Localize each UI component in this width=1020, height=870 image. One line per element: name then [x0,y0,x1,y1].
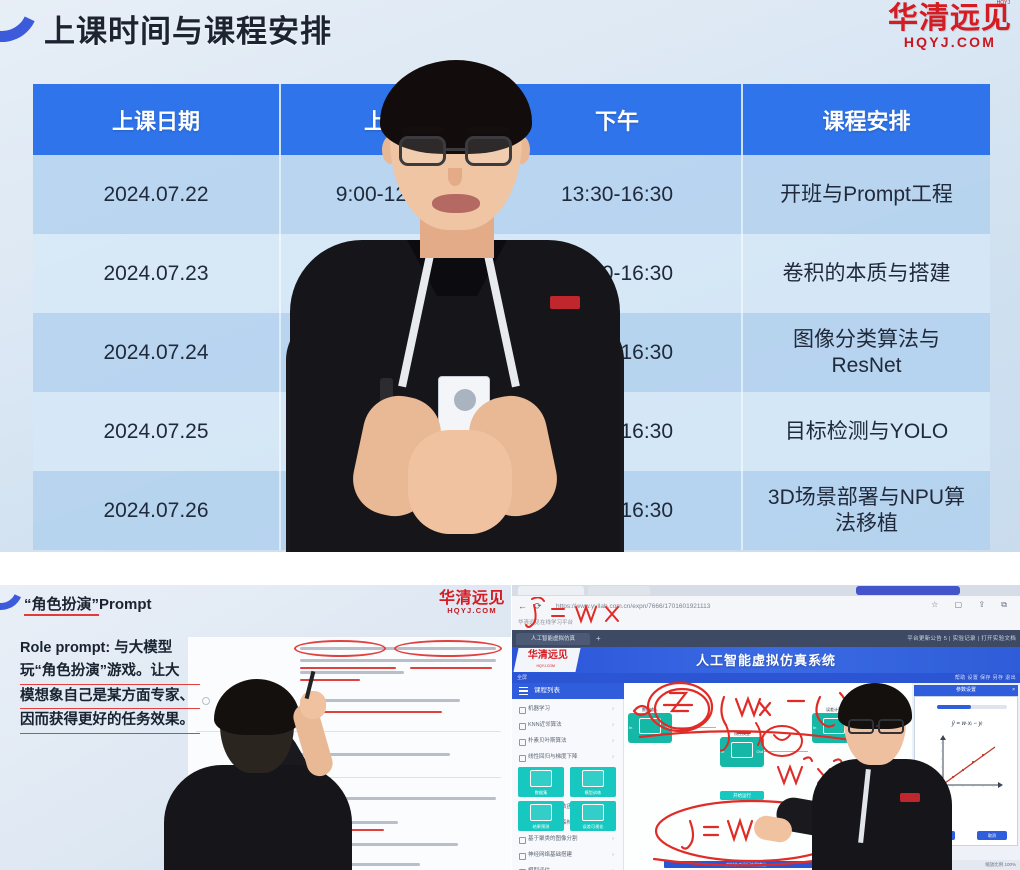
tile-label: 数据集 [518,790,564,796]
brand-logo-tiny: HQYJ [997,1,1010,6]
node-in-port[interactable]: In [629,725,632,730]
app-sidebar: 课程列表 机器学习 KNN近邻算法 朴素贝叶斯算法 线性回归与梯度下降 支持向量… [512,683,624,870]
bl-body-text: Role prompt: 与大模型 玩“角色扮演”游戏。让大 模想象自己是某方面… [20,637,200,734]
browser-toolbar-icons[interactable]: ☆ ▢ ⇪ ⧉ [931,600,1014,610]
node-label: 数据输入 [628,707,672,713]
hamburger-icon[interactable] [519,687,528,695]
column-header-date: 上课日期 [33,84,281,155]
cell-date: 2024.07.26 [33,471,281,550]
bl-title-quoted: “角色扮演” [24,596,99,616]
scatter-icon [582,804,604,821]
function-icon [530,770,552,787]
node-in-port[interactable]: In [721,749,724,754]
instructor-hair [214,679,300,735]
sidebar-item-linear-regression[interactable]: 线性回归与梯度下降 [518,751,618,764]
bl-body-line: 玩“角色扮演”游戏。让大 [20,660,200,684]
instructor-right-torso [812,759,952,870]
node-data-input[interactable]: 数据输入 In Out [628,713,672,743]
sidebar-item-bayes[interactable]: 朴素贝叶斯算法 [518,735,618,748]
instructor-hand [300,691,326,719]
brand-logo-cn: 华清远见 [888,4,1012,34]
glasses-left-lens [399,136,446,166]
node-out-port[interactable]: Out [665,725,671,730]
sidebar-header[interactable]: 课程列表 [512,683,624,699]
column-header-course: 课程安排 [743,84,990,155]
presenter-hands [408,430,512,534]
tile-prediction[interactable]: 结果预测 [518,801,564,831]
cell-date: 2024.07.22 [33,155,281,234]
annotation-ellipse [294,640,386,657]
decorative-arc [0,0,48,52]
bl-body-line: 因而获得更好的任务效果。 [20,709,200,733]
bl-brand-logo: 华清远见 HQYJ.COM [439,591,505,615]
tile-label: 模型训练 [570,790,616,796]
cell-date: 2024.07.25 [33,392,281,471]
sidebar-item-knn[interactable]: KNN近邻算法 [518,719,618,732]
sidebar-item-clustering[interactable]: 基于聚类的图像分割 [518,833,618,846]
bottom-left-slide: “角色扮演”Prompt 华清远见 HQYJ.COM Rol [0,585,511,870]
app-subbar-actions[interactable]: 帮助 设置 保存 另存 退出 [955,673,1016,683]
glasses-bridge [876,725,880,727]
tile-training[interactable]: 模型训练 [570,767,616,797]
presenter-logo-patch [550,296,580,309]
app-tab-tools[interactable]: 平台更新公告 5 | 实验记录 | 打开实验文档 [907,633,1016,645]
node-out-port[interactable]: Out [757,749,763,754]
annotation-ellipse [394,640,502,657]
sidebar-header-label: 课程列表 [534,687,560,694]
tile-label: 误差可视化 [570,824,616,830]
presenter-left-eyebrow [401,127,444,133]
node-label: 线性模型 [720,731,764,737]
tile-label: 结果预测 [518,824,564,830]
browser-tab[interactable] [518,586,584,595]
bl-body-line: Role prompt: 与大模型 [20,637,200,660]
parameter-panel-title: 参数设置 [956,687,976,693]
browser-tab[interactable] [588,586,650,595]
bl-brand-logo-cn: 华清远见 [439,591,505,607]
instructor-figure-right [804,677,954,870]
bl-body-line: 模想象自己是某方面专家、 [20,685,200,709]
bookmark-bar-item[interactable]: 华清远见在线学习平台 [512,617,1020,630]
fullscreen-button[interactable]: 全屏 [517,675,527,681]
bottom-right-slide: ← ⟳ https://www.yyilab.com.cn/expn/7666/… [512,585,1020,870]
back-button[interactable]: ← [518,601,527,611]
presenter-right-eyebrow [467,127,510,133]
brand-logo: HQYJ 华清远见 HQYJ.COM [888,4,1012,49]
node-linear-model[interactable]: 线性模型 In Out [720,737,764,767]
sidebar-item-evaluation[interactable]: 模型评估 [518,865,618,870]
node-glyph [731,742,753,758]
app-version: V4.12 [819,657,832,663]
app-tab-active[interactable]: 人工智能虚拟仿真 [516,633,590,645]
glasses-bridge [446,148,465,151]
bl-brand-logo-en: HQYJ.COM [439,607,505,615]
cell-course: 开班与Prompt工程 [743,155,990,234]
browser-address-bar: ← ⟳ https://www.yyilab.com.cn/expn/7666/… [512,596,1020,617]
network-icon [582,770,604,787]
glasses-right-lens [878,719,904,734]
app-title: 人工智能虚拟仿真系统 [512,650,1020,669]
app-tab-bar: 人工智能虚拟仿真 + 平台更新公告 5 | 实验记录 | 打开实验文档 [512,630,1020,647]
new-tab-button[interactable]: + [596,633,601,645]
sidebar-section-label: 机器学习 [518,703,618,716]
brand-logo-en: HQYJ.COM [888,35,1012,49]
cell-date: 2024.07.24 [33,313,281,392]
page-title: 上课时间与课程安排 [44,6,332,51]
cell-course: 图像分类算法与ResNet [743,313,990,392]
reload-button[interactable]: ⟳ [534,601,542,612]
cancel-button[interactable]: 取消 [977,831,1007,840]
tile-error-visual[interactable]: 误差可视化 [570,801,616,831]
cell-course: 卷积的本质与搭建 [743,234,990,313]
glasses-left-lens [848,719,874,734]
chart-icon [530,804,552,821]
glasses-right-lens [465,136,512,166]
instructor-logo-patch [900,793,920,802]
cell-course: 3D场景部署与NPU算法移植 [743,471,990,550]
presenter-figure [262,58,644,552]
browser-highlight-pill [856,586,960,595]
bl-page-title: “角色扮演”Prompt [24,593,152,614]
instructor-torso [164,765,352,870]
presenter-mouth [432,194,480,213]
presenter-nose [448,168,462,186]
bl-title-rest: Prompt [99,596,152,613]
close-icon[interactable]: × [1012,685,1015,696]
top-slide: 上课时间与课程安排 HQYJ 华清远见 HQYJ.COM 上课日期 上午 下午 … [0,0,1020,552]
cell-course: 目标检测与YOLO [743,392,990,471]
node-glyph [639,718,661,734]
url-input[interactable]: https://www.yyilab.com.cn/expn/7666/1701… [556,600,746,613]
run-button[interactable]: 开始运行 [720,791,764,800]
app-header: 华清远见 HQYJ.COM 人工智能虚拟仿真系统 V4.12 [512,647,1020,673]
browser-tab-strip [512,585,1020,596]
cell-date: 2024.07.23 [33,234,281,313]
sidebar-item-neural-network[interactable]: 神经网络基础搭建 [518,849,618,862]
tile-dataset[interactable]: 数据集 [518,767,564,797]
